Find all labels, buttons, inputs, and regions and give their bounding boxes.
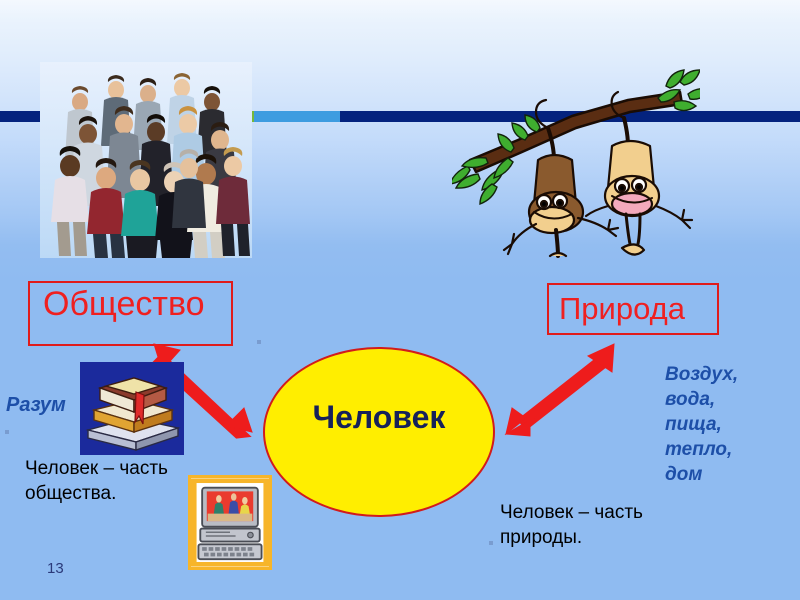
page-number: 13 bbox=[47, 560, 64, 577]
artifact-dot bbox=[5, 430, 9, 434]
human-label: Человек bbox=[304, 395, 454, 439]
double-headed-arrow-human-nature bbox=[500, 338, 625, 438]
caption-society: Человек – часть общества. bbox=[25, 456, 215, 506]
artifact-dot bbox=[489, 541, 493, 545]
nature-resources-label: Воздух, вода, пища, тепло, дом bbox=[665, 362, 743, 487]
artifact-dot bbox=[257, 340, 261, 344]
society-label: Общество bbox=[43, 285, 205, 323]
nature-label: Природа bbox=[559, 291, 685, 326]
nature-box[interactable]: Природа bbox=[547, 283, 719, 335]
group-of-people-photo bbox=[40, 62, 252, 258]
slide-canvas: Общество Природа Человек bbox=[0, 0, 800, 600]
reason-label: Разум bbox=[6, 394, 66, 417]
human-ellipse[interactable]: Человек bbox=[263, 347, 495, 517]
two-monkeys-hanging-from-branch-cartoon bbox=[452, 62, 700, 258]
caption-nature: Человек – часть природы. bbox=[500, 500, 690, 550]
stack-of-books-clipart bbox=[80, 362, 184, 455]
